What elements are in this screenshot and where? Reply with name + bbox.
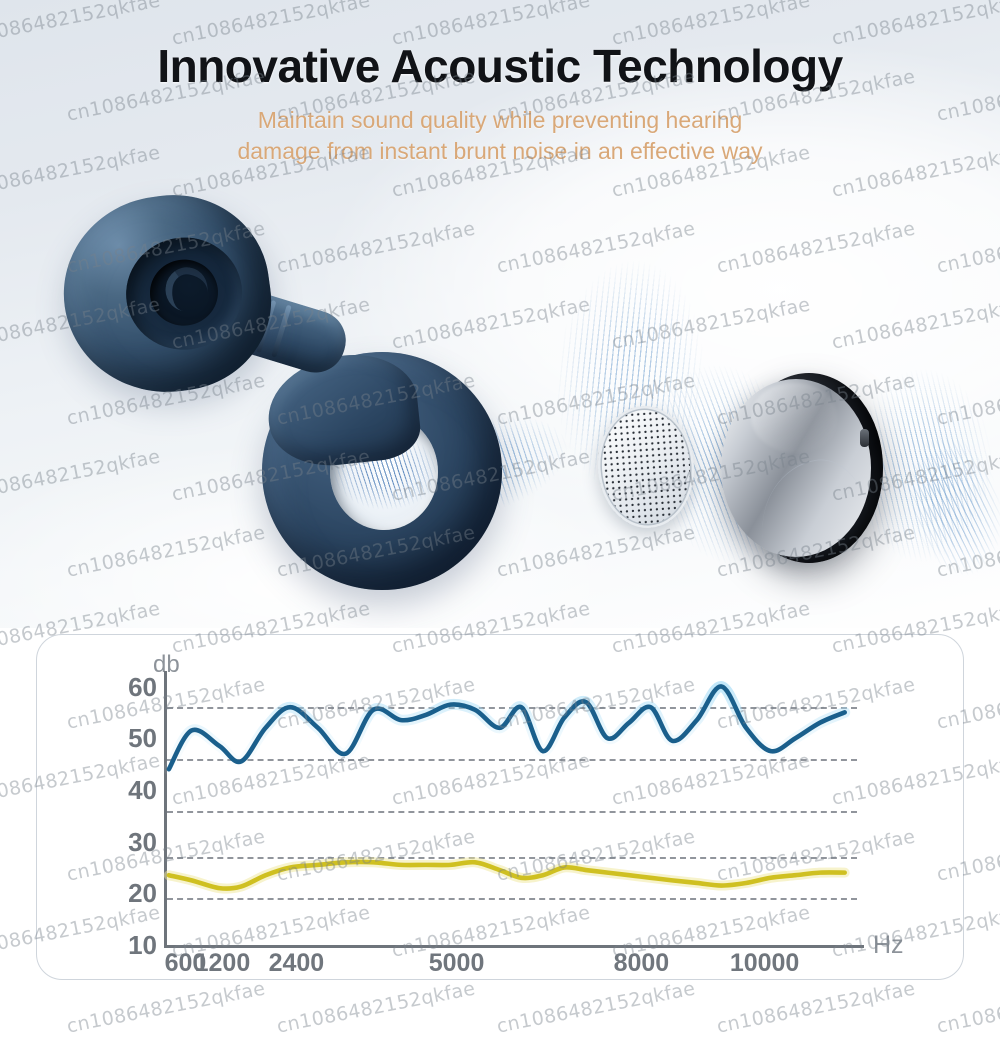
x-tick-label: 5000 xyxy=(429,949,485,978)
frequency-response-chart-panel: db 605040302010 Hz 600120024005000800010… xyxy=(36,634,964,980)
x-tick-label: 1200 xyxy=(195,949,251,978)
page-title: Innovative Acoustic Technology xyxy=(0,42,1000,91)
acoustic-module xyxy=(735,373,883,563)
earplug-ear-tip xyxy=(51,183,282,406)
chart-inner: db 605040302010 Hz 600120024005000800010… xyxy=(37,635,963,979)
chart-curves xyxy=(37,635,965,981)
x-tick-label: 10000 xyxy=(730,949,800,978)
x-tick-label: 2400 xyxy=(269,949,325,978)
page-subtitle: Maintain sound quality while preventing … xyxy=(0,105,1000,167)
hero-section: Innovative Acoustic Technology Maintain … xyxy=(0,0,1000,628)
ear-tip-bowl xyxy=(119,230,249,357)
stem-rib xyxy=(271,305,292,358)
x-axis-tick-labels: 600120024005000800010000 xyxy=(37,949,963,989)
subtitle-line-1: Maintain sound quality while preventing … xyxy=(0,105,1000,136)
heading-block: Innovative Acoustic Technology Maintain … xyxy=(0,0,1000,167)
module-side-button xyxy=(860,429,869,447)
subtitle-line-2: damage from instant brunt noise in an ef… xyxy=(0,136,1000,167)
x-tick-label: 8000 xyxy=(614,949,670,978)
sound-wave-ribbon-icon xyxy=(888,420,1000,590)
module-gloss-highlight xyxy=(751,383,837,453)
after-curve xyxy=(169,862,845,889)
mesh-filter-disc xyxy=(594,403,698,531)
